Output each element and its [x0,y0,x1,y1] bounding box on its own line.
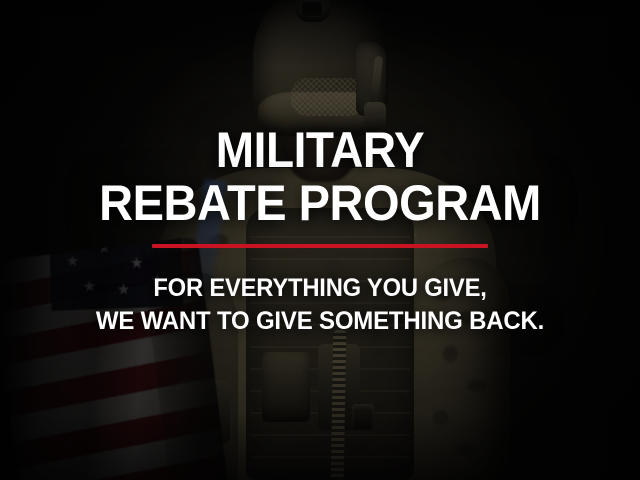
headline-line-2: REBATE PROGRAM [19,179,621,228]
headline-block: MILITARY REBATE PROGRAM [0,126,640,228]
banner-content: MILITARY REBATE PROGRAM FOR EVERYTHING Y… [0,0,640,480]
subheadline-block: FOR EVERYTHING YOU GIVE, WE WANT TO GIVE… [0,272,640,338]
promo-banner: ★ ★ ★ ★ ★ ★ MILITARY REBATE PROGRAM FOR … [0,0,640,480]
headline-line-1: MILITARY [26,126,615,175]
subheadline-line-1: FOR EVERYTHING YOU GIVE, [16,272,624,305]
red-divider [152,244,488,248]
subheadline-line-2: WE WANT TO GIVE SOMETHING BACK. [13,305,627,338]
